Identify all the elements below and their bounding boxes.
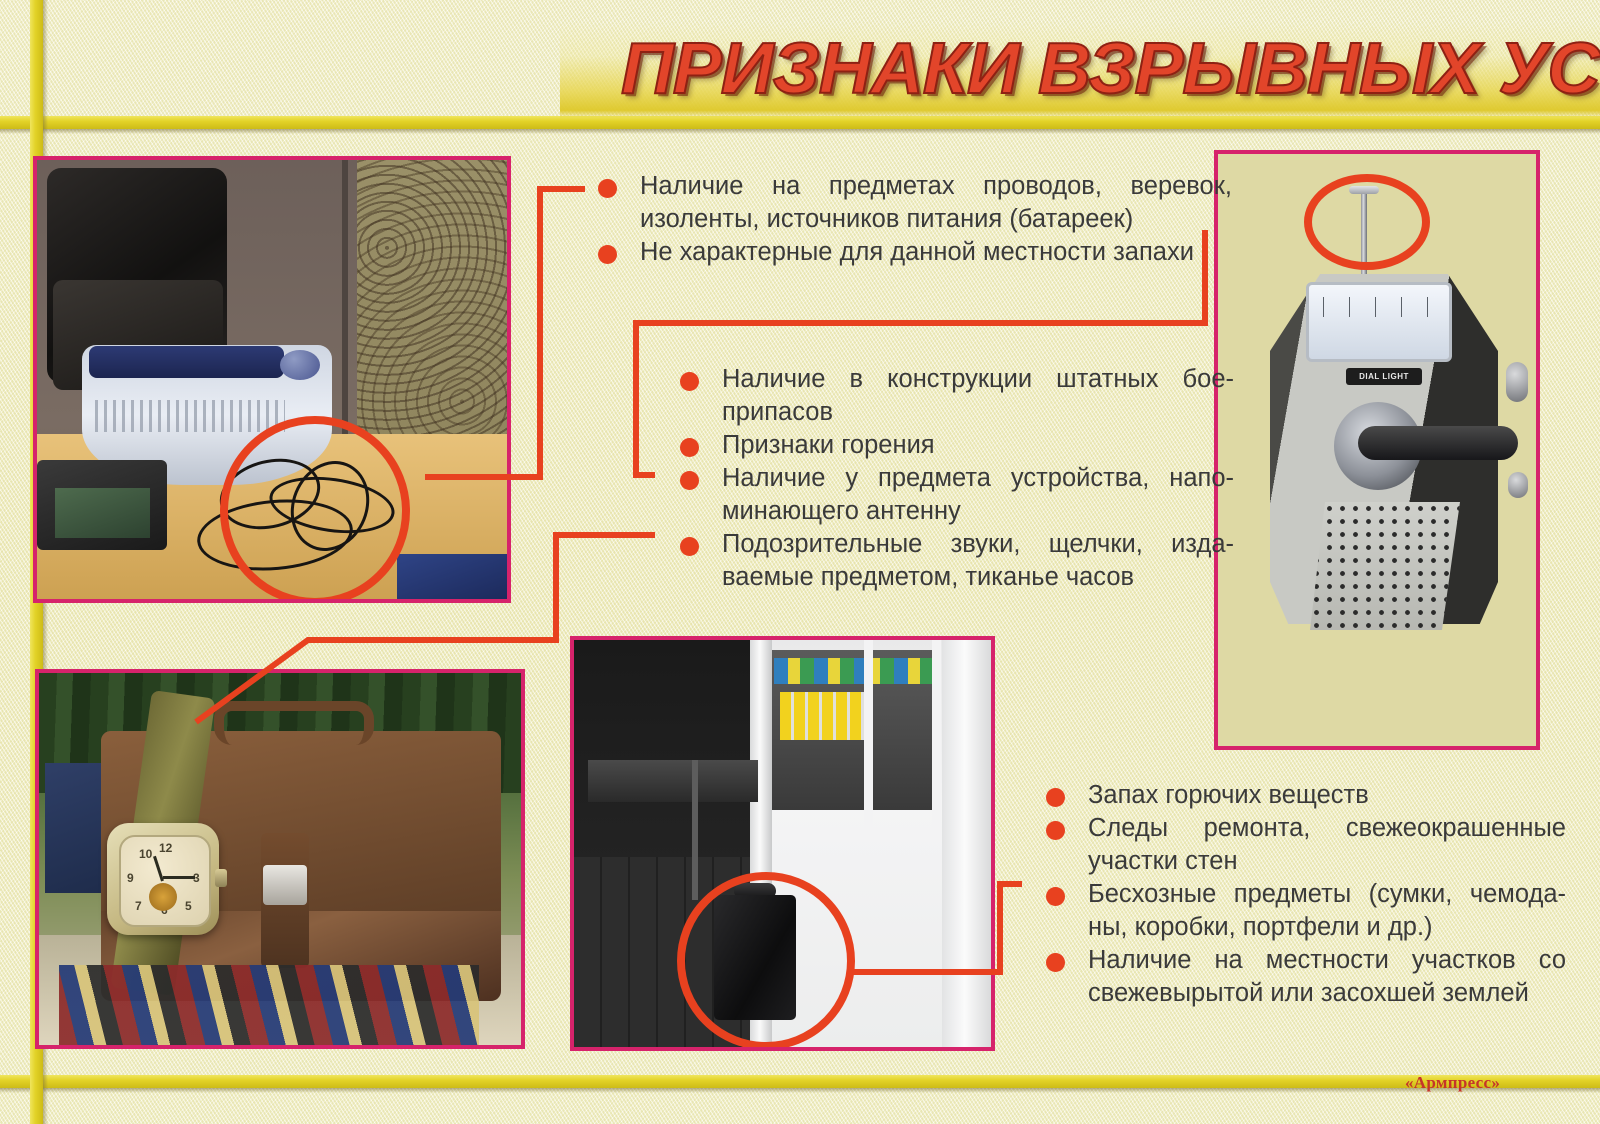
list-item[interactable]: Бесхозные предметы (сумки, чемода- ны, к…: [1046, 878, 1526, 944]
window-mullion: [932, 640, 941, 830]
office-blue-folder: [397, 554, 507, 599]
frame-band-top-shadow: [0, 129, 1600, 134]
briefcase-handle: [214, 701, 374, 745]
list-item[interactable]: Наличие у предмета устройства, напо- мин…: [680, 462, 1200, 528]
list-item[interactable]: Наличие в конструкции штатных бое- припа…: [680, 363, 1200, 429]
list-item[interactable]: Не характерные для данной местности запа…: [598, 236, 1208, 269]
watch-numeral: 5: [185, 899, 192, 913]
store-product-row: [774, 658, 934, 684]
frame-band-bottom-shadow: [0, 1088, 1600, 1093]
watch-numeral: 9: [127, 871, 134, 885]
photo-office-boombox: [33, 156, 511, 603]
marker-circle-wires: [220, 416, 410, 603]
list-item-line: припасов: [722, 396, 1234, 429]
watch-crown: [215, 869, 227, 887]
window-mullion: [864, 640, 873, 830]
list-item-line: изоленты, источников питания (батареек): [640, 203, 1232, 236]
list-item[interactable]: Признаки горения: [680, 429, 1200, 462]
watch-numeral: 10: [139, 847, 152, 861]
list-item-line: Наличие на предметах проводов, веревок,: [640, 170, 1232, 203]
radio-dial-tick: [1427, 297, 1428, 317]
office-boombox-knob: [280, 350, 320, 380]
frame-band-bottom-bar: [0, 1075, 1600, 1088]
list-item-line: минающего антенну: [722, 495, 1234, 528]
photo-store-briefcase: [570, 636, 995, 1051]
list-item-line: Запах горючих веществ: [1088, 779, 1566, 812]
list-item-line: Наличие у предмета устройства, напо-: [722, 462, 1234, 495]
list-item[interactable]: Следы ремонта, свежеокрашенные участки с…: [1046, 812, 1526, 878]
bullet-icon: [680, 438, 699, 457]
watch-face: 12 3 6 9 10 5 7: [119, 835, 211, 927]
store-yellow-boxes: [780, 692, 868, 740]
radio-side-knob-band: [1508, 472, 1528, 498]
page-title: ПРИЗНАКИ ВЗРЫВНЫХ УСТРОЙСТВ: [621, 26, 1590, 112]
radio-dial-tick: [1349, 297, 1350, 317]
poster-root: ПРИЗНАКИ ВЗРЫВНЫХ УСТРОЙСТВ DIAL LIGHT: [0, 0, 1600, 1124]
marker-circle-antenna: [1304, 174, 1430, 270]
list-item[interactable]: Наличие на местности участков со свежевы…: [1046, 944, 1526, 1010]
list-item-line: участки стен: [1088, 845, 1566, 878]
bullet-icon: [1046, 788, 1065, 807]
signs-group-middle: Наличие в конструкции штатных бое- припа…: [680, 363, 1200, 594]
bullet-icon: [1046, 887, 1065, 906]
bullet-icon: [1046, 953, 1065, 972]
bullet-icon: [1046, 821, 1065, 840]
photo-watch-briefcase: 12 3 6 9 10 5 7: [35, 669, 525, 1049]
frame-band-top: [0, 116, 1600, 134]
list-item-line: Следы ремонта, свежеокрашенные: [1088, 812, 1566, 845]
publisher-logo: «Армпресс»: [1405, 1073, 1500, 1093]
patterned-cloth: [59, 965, 479, 1045]
list-item-line: ны, коробки, портфели и др.): [1088, 911, 1566, 944]
radio-dial-tick: [1323, 297, 1324, 317]
watch-numeral: 7: [135, 899, 142, 913]
bullet-icon: [680, 471, 699, 490]
watch-numeral: 12: [159, 841, 172, 855]
list-item-line: Наличие на местности участков со: [1088, 944, 1566, 977]
radio-dial-window: [1306, 282, 1452, 362]
radio-dial-tick: [1375, 297, 1376, 317]
list-item-line: ваемые предметом, тиканье часов: [722, 561, 1234, 594]
list-item-line: Признаки горения: [722, 429, 1234, 462]
store-counter: [588, 760, 758, 802]
office-green-notebook: [55, 488, 150, 538]
watch-minute-hand: [163, 876, 195, 879]
radio-handle: [1358, 426, 1518, 460]
list-item-line: Наличие в конструкции штатных бое-: [722, 363, 1234, 396]
list-item-line: Не характерные для данной местности запа…: [640, 236, 1232, 269]
briefcase-lock: [263, 865, 307, 905]
list-item[interactable]: Наличие на предметах проводов, веревок, …: [598, 170, 1208, 236]
frame-band-bottom: [0, 1075, 1600, 1093]
radio-speaker-grille: [1310, 502, 1460, 630]
list-item-line: Бесхозные предметы (сумки, чемода-: [1088, 878, 1566, 911]
photo-radio-antenna: DIAL LIGHT: [1214, 150, 1540, 750]
list-item-line: Подозрительные звуки, щелчки, изда-: [722, 528, 1234, 561]
bullet-icon: [598, 179, 617, 198]
marker-circle-briefcase: [677, 872, 855, 1050]
radio-dial-light-label: DIAL LIGHT: [1346, 368, 1422, 385]
signs-group-bottom: Запах горючих веществ Следы ремонта, све…: [1046, 779, 1526, 1010]
bullet-icon: [680, 537, 699, 556]
radio-dial-tick: [1401, 297, 1402, 317]
store-pole: [692, 760, 698, 900]
list-item-line: свежевырытой или засохшей землей: [1088, 977, 1566, 1010]
office-boombox-vents: [95, 400, 285, 432]
bullet-icon: [680, 372, 699, 391]
signs-group-top: Наличие на предметах проводов, веревок, …: [598, 170, 1208, 269]
bullet-icon: [598, 245, 617, 264]
office-boombox-lid: [89, 346, 284, 378]
store-door-frame: [942, 640, 995, 1047]
radio-side-knob-volume: [1506, 362, 1528, 402]
watch-tourbillon: [149, 883, 177, 911]
list-item[interactable]: Подозрительные звуки, щелчки, изда- ваем…: [680, 528, 1200, 594]
list-item[interactable]: Запах горючих веществ: [1046, 779, 1526, 812]
